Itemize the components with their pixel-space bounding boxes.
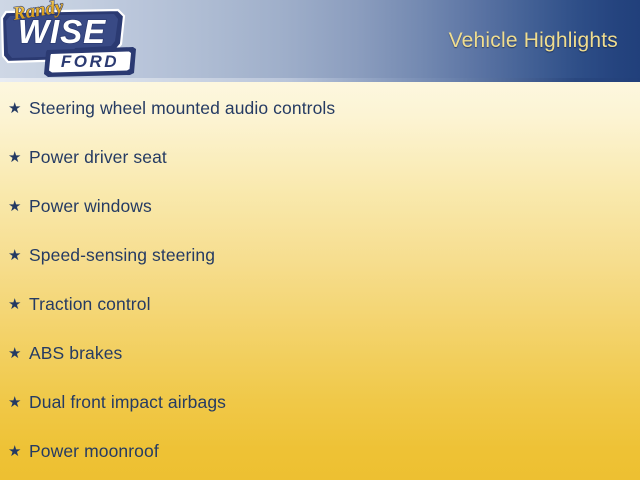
- star-bullet-icon: ★: [8, 101, 29, 116]
- star-bullet-icon: ★: [8, 199, 29, 214]
- list-item-label: ABS brakes: [29, 343, 122, 364]
- star-bullet-icon: ★: [8, 248, 29, 263]
- dealer-logo: WISE FORD Randy: [0, 0, 140, 82]
- star-bullet-icon: ★: [8, 346, 29, 361]
- vehicle-highlights-page: WISE FORD Randy Vehicle Highlights ★ Ste…: [0, 0, 640, 480]
- star-bullet-icon: ★: [8, 395, 29, 410]
- star-bullet-icon: ★: [8, 444, 29, 459]
- star-bullet-icon: ★: [8, 150, 29, 165]
- star-bullet-icon: ★: [8, 297, 29, 312]
- list-item: ★ Steering wheel mounted audio controls: [0, 84, 640, 133]
- list-item-label: Steering wheel mounted audio controls: [29, 98, 335, 119]
- list-item-label: Power moonroof: [29, 441, 159, 462]
- list-item: ★ Dual front impact airbags: [0, 378, 640, 427]
- list-item: ★ Power windows: [0, 182, 640, 231]
- list-item-label: Dual front impact airbags: [29, 392, 226, 413]
- list-item: ★ Speed-sensing steering: [0, 231, 640, 280]
- list-item-label: Power windows: [29, 196, 152, 217]
- list-item-label: Traction control: [29, 294, 151, 315]
- page-title: Vehicle Highlights: [449, 29, 618, 53]
- list-item: ★ Power driver seat: [0, 133, 640, 182]
- list-item: ★ Power moonroof: [0, 427, 640, 476]
- list-item: ★ ABS brakes: [0, 329, 640, 378]
- randy-wise-ford-logo-graphic: WISE FORD Randy: [0, 0, 140, 82]
- list-item-label: Power driver seat: [29, 147, 167, 168]
- list-item-label: Speed-sensing steering: [29, 245, 215, 266]
- logo-ford-text: FORD: [61, 52, 119, 71]
- vehicle-highlights-list: ★ Steering wheel mounted audio controls …: [0, 82, 640, 480]
- list-item: ★ Traction control: [0, 280, 640, 329]
- page-header: WISE FORD Randy Vehicle Highlights: [0, 0, 640, 82]
